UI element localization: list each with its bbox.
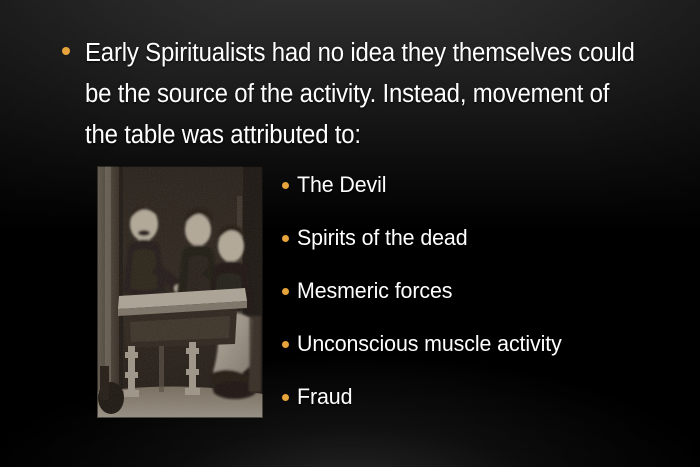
slide-canvas: Early Spiritualists had no idea they the… — [0, 0, 700, 467]
bullet-dot-icon — [282, 394, 289, 401]
sub-bullet-list: The Devil Spirits of the dead Mesmeric f… — [282, 170, 682, 435]
sub-bullet-item-1: Spirits of the dead — [282, 223, 682, 276]
bullet-dot-icon — [282, 341, 289, 348]
sub-bullet-item-2: Mesmeric forces — [282, 276, 682, 329]
bullet-dot-icon — [282, 235, 289, 242]
sub-bullet-label: Spirits of the dead — [297, 223, 467, 253]
bullet-dot-icon — [282, 182, 289, 189]
sub-bullet-label: The Devil — [297, 170, 386, 200]
sub-bullet-item-0: The Devil — [282, 170, 682, 223]
main-bullet-text: Early Spiritualists had no idea they the… — [85, 33, 637, 156]
bullet-dot-icon — [282, 288, 289, 295]
sub-bullet-item-4: Fraud — [282, 382, 682, 435]
sub-bullet-label: Mesmeric forces — [297, 276, 452, 306]
seance-photograph — [97, 166, 263, 418]
main-bullet-item: Early Spiritualists had no idea they the… — [62, 33, 672, 156]
sub-bullet-item-3: Unconscious muscle activity — [282, 329, 682, 382]
sub-bullet-label: Fraud — [297, 382, 352, 412]
bullet-dot-icon — [62, 47, 70, 55]
sub-bullet-label: Unconscious muscle activity — [297, 329, 562, 359]
